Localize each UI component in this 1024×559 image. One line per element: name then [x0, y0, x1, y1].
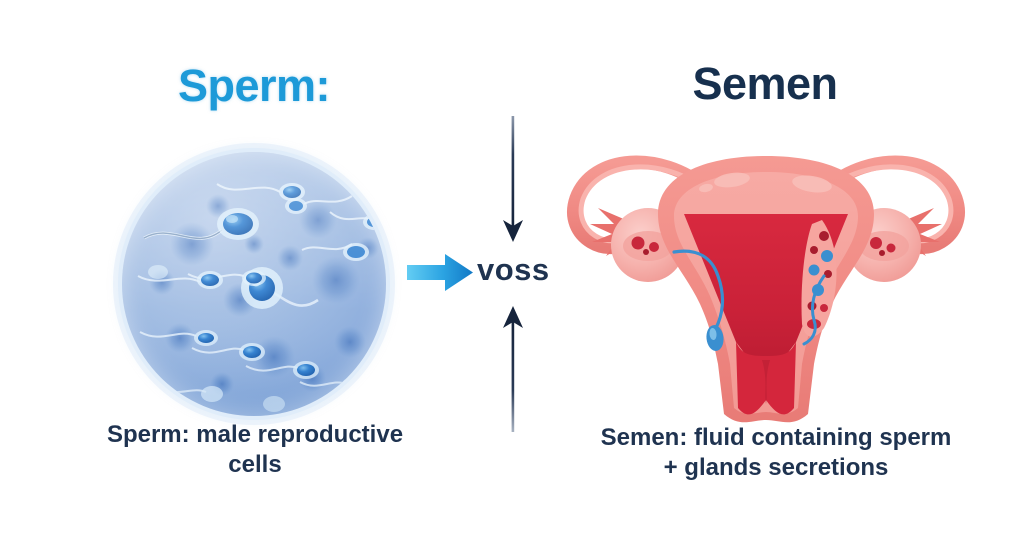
up-arrow-icon [496, 306, 530, 432]
right-caption: Semen: fluid containing sperm + glands s… [596, 423, 956, 483]
infographic-canvas: Sperm: Semen [0, 0, 1024, 559]
right-title: Semen [560, 58, 970, 110]
blue-right-arrow-icon [405, 250, 475, 295]
center-label: voss [477, 252, 550, 288]
sperm-illustration [113, 143, 395, 425]
uterus-illustration [556, 128, 976, 428]
down-arrow-icon [496, 116, 530, 242]
left-caption: Sperm: male reproductive cells [100, 420, 410, 480]
left-title: Sperm: [0, 60, 508, 112]
sperm-circle-disc [122, 152, 386, 416]
